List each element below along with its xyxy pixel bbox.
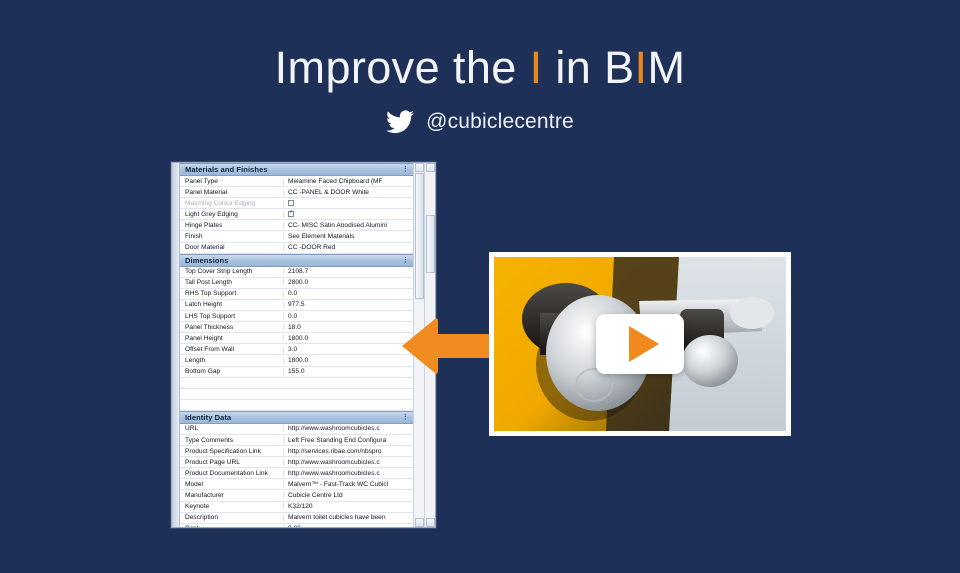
title-accent-i2: I	[635, 42, 648, 93]
slide-canvas: Improve the I in BIM @cubiclecentre Mate…	[0, 0, 960, 573]
property-value[interactable]: http://www.washroomcubicles.c	[284, 470, 413, 477]
property-key: Product Page URL	[180, 459, 284, 466]
property-row[interactable]: Type CommentsLeft Free Standing End Conf…	[180, 435, 413, 446]
property-group-header[interactable]: Materials and Finishes⋮	[180, 163, 413, 176]
property-group-header[interactable]: Identity Data⋮	[180, 411, 413, 424]
property-value[interactable]: Melamine Faced Chipboard (MF	[284, 178, 413, 185]
title-text-part1: Improve the	[275, 42, 530, 93]
title-accent-i1: I	[530, 42, 543, 93]
property-key: Light Grey Edging	[180, 211, 284, 218]
property-row[interactable]: Length1800.0	[180, 355, 413, 366]
group-grip-icon: ⋮	[402, 257, 409, 264]
property-value[interactable]: Malvern™ - Fast-Track WC Cubicl	[284, 481, 413, 488]
group-grip-icon: ⋮	[402, 414, 409, 421]
property-key: Description	[180, 514, 284, 521]
title-text-part2: in B	[542, 42, 634, 93]
property-row[interactable]: LHS Top Support0.0	[180, 311, 413, 322]
property-key: Length	[180, 357, 284, 364]
property-key: Manufacturer	[180, 492, 284, 499]
property-key: Type Comments	[180, 437, 284, 444]
property-key: Panel Height	[180, 335, 284, 342]
property-key: Panel Thickness	[180, 324, 284, 331]
page-title: Improve the I in BIM	[0, 42, 960, 94]
property-value[interactable]: 2800.0	[284, 279, 413, 286]
property-key: Product Documentation Link	[180, 470, 284, 477]
property-row[interactable]: Latch Height977.5	[180, 300, 413, 311]
property-row[interactable]: Top Cover Strip Length2108.7	[180, 267, 413, 278]
property-value[interactable]: 3.0	[284, 346, 413, 353]
property-key: Cost	[180, 525, 284, 527]
property-key: URL	[180, 425, 284, 432]
property-key: Matching Colour Edging	[180, 200, 284, 207]
property-row[interactable]	[180, 400, 413, 411]
property-key: Tall Post Length	[180, 279, 284, 286]
property-row[interactable]: FinishSee Element Materials	[180, 231, 413, 242]
property-key: Top Cover Strip Length	[180, 268, 284, 275]
property-checkbox[interactable]	[288, 200, 294, 206]
properties-grid[interactable]: Materials and Finishes⋮Panel TypeMelamin…	[180, 163, 413, 527]
scroll-down-arrow-inner[interactable]	[415, 518, 424, 527]
property-row[interactable]: Panel TypeMelamine Faced Chipboard (MF	[180, 176, 413, 187]
property-row[interactable]: Panel MaterialCC -PANEL & DOOR White	[180, 187, 413, 198]
property-row[interactable]: Door MaterialCC -DOOR Red	[180, 243, 413, 254]
property-row[interactable]: Product Page URLhttp://www.washroomcubic…	[180, 457, 413, 468]
property-value[interactable]: 1800.0	[284, 335, 413, 342]
property-row[interactable]: ManufacturerCubicle Centre Ltd	[180, 490, 413, 501]
property-value[interactable]: CC -PANEL & DOOR White	[284, 189, 413, 196]
property-value[interactable]: http://www.washroomcubicles.c	[284, 425, 413, 432]
property-value[interactable]: 155.0	[284, 368, 413, 375]
product-video-thumbnail[interactable]	[489, 252, 791, 436]
property-key: Latch Height	[180, 301, 284, 308]
property-row[interactable]: Product Specification Linkhttp://service…	[180, 446, 413, 457]
property-row[interactable]: Hinge PlatesCC- MISC Satin Anodised Alum…	[180, 220, 413, 231]
property-value[interactable]: Cubicle Centre Ltd	[284, 492, 413, 499]
property-row[interactable]: Panel Thickness18.0	[180, 322, 413, 333]
property-row[interactable]: Panel Height1800.0	[180, 333, 413, 344]
property-group-title: Materials and Finishes	[185, 165, 268, 174]
property-key: Panel Type	[180, 178, 284, 185]
property-value[interactable]: Malvern toilet cubicles have been	[284, 514, 413, 521]
property-value[interactable]: 0.00	[284, 525, 413, 527]
property-value[interactable]	[284, 199, 413, 207]
property-row[interactable]: KeynoteK32/120	[180, 502, 413, 513]
property-row[interactable]: Product Documentation Linkhttp://www.was…	[180, 468, 413, 479]
play-button[interactable]	[596, 314, 684, 374]
group-grip-icon: ⋮	[402, 166, 409, 173]
property-value[interactable]: http://services.ribae.com/nbspro	[284, 448, 413, 455]
property-group-title: Identity Data	[185, 413, 231, 422]
property-key: Hinge Plates	[180, 222, 284, 229]
property-row[interactable]: Matching Colour Edging	[180, 198, 413, 209]
property-value[interactable]: 0.0	[284, 313, 413, 320]
property-row[interactable]: Bottom Gap155.0	[180, 367, 413, 378]
property-value[interactable]: CC -DOOR Red	[284, 244, 413, 251]
property-checkbox[interactable]	[288, 211, 294, 217]
video-image	[494, 257, 786, 431]
property-row[interactable]: URLhttp://www.washroomcubicles.c	[180, 424, 413, 435]
panel-left-gutter	[172, 163, 180, 527]
property-value[interactable]: K32/120	[284, 503, 413, 510]
social-handle-row: @cubiclecentre	[0, 110, 960, 134]
title-text-part3: M	[647, 42, 685, 93]
property-row[interactable]: DescriptionMalvern toilet cubicles have …	[180, 513, 413, 524]
property-value[interactable]: Left Free Standing End Configura	[284, 437, 413, 444]
property-row[interactable]: Tall Post Length2800.0	[180, 278, 413, 289]
twitter-handle-text: @cubiclecentre	[426, 110, 574, 134]
property-key: Door Material	[180, 244, 284, 251]
property-key: Offset From Wall	[180, 346, 284, 353]
scrollbar-thumb-inner[interactable]	[415, 173, 424, 299]
scroll-up-arrow-inner[interactable]	[415, 163, 424, 172]
orange-left-arrow	[402, 317, 490, 375]
scroll-down-arrow-outer[interactable]	[426, 518, 435, 527]
property-row[interactable]	[180, 389, 413, 400]
scrollbar-thumb-outer[interactable]	[426, 215, 435, 273]
property-row[interactable]: Offset From Wall3.0	[180, 344, 413, 355]
property-value[interactable]: 1800.0	[284, 357, 413, 364]
property-value[interactable]: 977.5	[284, 301, 413, 308]
property-key: RHS Top Support	[180, 290, 284, 297]
property-row[interactable]	[180, 378, 413, 389]
property-value[interactable]: See Element Materials	[284, 233, 413, 240]
property-key: Finish	[180, 233, 284, 240]
property-value[interactable]: 2108.7	[284, 268, 413, 275]
property-key: Keynote	[180, 503, 284, 510]
property-value[interactable]: 18.0	[284, 324, 413, 331]
property-key: Product Specification Link	[180, 448, 284, 455]
property-row[interactable]: Light Grey Edging	[180, 209, 413, 220]
properties-grid-rows[interactable]: Materials and Finishes⋮Panel TypeMelamin…	[180, 163, 413, 527]
property-key: LHS Top Support	[180, 313, 284, 320]
property-group-header[interactable]: Dimensions⋮	[180, 254, 413, 267]
play-triangle-icon	[629, 326, 659, 362]
property-value[interactable]: http://www.washroomcubicles.c	[284, 459, 413, 466]
property-value[interactable]: 0.0	[284, 290, 413, 297]
properties-panel[interactable]: Materials and Finishes⋮Panel TypeMelamin…	[171, 162, 436, 528]
property-row[interactable]: Cost0.00	[180, 524, 413, 527]
twitter-bird-icon	[386, 110, 414, 134]
property-key: Bottom Gap	[180, 368, 284, 375]
property-group-title: Dimensions	[185, 256, 229, 265]
property-value[interactable]	[284, 210, 413, 218]
property-key: Model	[180, 481, 284, 488]
scroll-up-arrow-outer[interactable]	[426, 163, 435, 172]
property-row[interactable]: RHS Top Support0.0	[180, 289, 413, 300]
property-key: Panel Material	[180, 189, 284, 196]
property-value[interactable]: CC- MISC Satin Anodised Alumini	[284, 222, 413, 229]
property-row[interactable]: ModelMalvern™ - Fast-Track WC Cubicl	[180, 479, 413, 490]
